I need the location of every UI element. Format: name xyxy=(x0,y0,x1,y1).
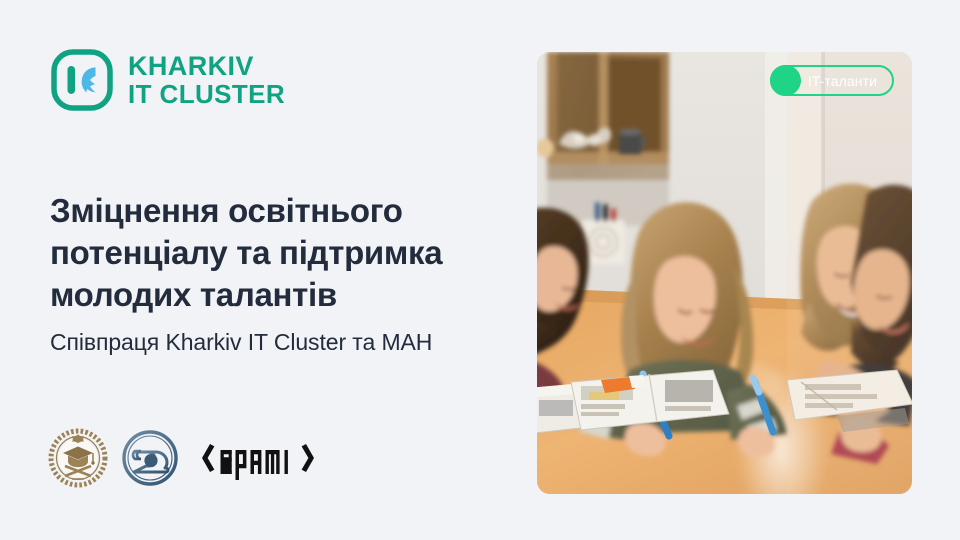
page-subtitle: Співпраця Kharkiv IT Cluster та МАН xyxy=(50,329,530,356)
kharkiv-it-cluster-logo-icon xyxy=(50,48,114,112)
brand-lockup: KHARKIV IT CLUSTER xyxy=(50,48,285,112)
page-title: Зміцнення освітнього потенціалу та підтр… xyxy=(50,190,530,316)
brand-wordmark: KHARKIV IT CLUSTER xyxy=(128,53,285,107)
headline-block: Зміцнення освітнього потенціалу та підтр… xyxy=(50,190,530,356)
hero-photo: IT-таланти xyxy=(537,52,912,494)
partner-circle-logo-icon xyxy=(120,428,180,488)
man-seal-logo-icon xyxy=(48,428,108,488)
badge-dot-icon xyxy=(770,65,801,96)
epam-wordmark-icon xyxy=(200,436,316,480)
brand-line-1: KHARKIV xyxy=(128,53,285,81)
brand-line-2: IT CLUSTER xyxy=(128,81,285,108)
partner-logos xyxy=(48,428,316,488)
status-badge: IT-таланти xyxy=(770,65,894,96)
status-badge-label: IT-таланти xyxy=(808,73,877,89)
